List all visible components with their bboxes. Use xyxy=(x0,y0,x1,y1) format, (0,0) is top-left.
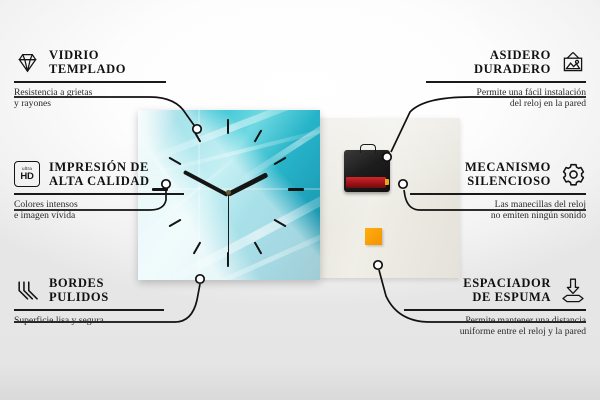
diamond-icon xyxy=(14,49,40,75)
feature-asidero-duradero: ASIDERO DURADERO Permite una fácil insta… xyxy=(426,48,586,109)
feature-desc-line2: y rayones xyxy=(14,98,51,109)
feature-desc-line2: uniforme entre el reloj y la pared xyxy=(460,326,586,337)
feature-title-line2: PULIDOS xyxy=(49,290,109,304)
feature-divider xyxy=(14,81,166,83)
feature-impresion-alta-calidad: ultra HD IMPRESIÓN DE ALTA CALIDAD Color… xyxy=(14,160,184,221)
feature-espaciador-de-espuma: ESPACIADOR DE ESPUMA Permite mantener un… xyxy=(404,276,586,337)
feature-desc-line1: Resistencia a grietas xyxy=(14,87,92,98)
feature-title-line1: VIDRIO xyxy=(49,48,99,62)
feature-desc-line1: Permite mantener una distancia xyxy=(465,315,586,326)
feature-desc-line1: Colores intensos xyxy=(14,199,78,210)
connector-dot-espaciador xyxy=(374,261,382,269)
feature-divider xyxy=(426,81,586,83)
feature-title-line2: DE ESPUMA xyxy=(472,290,551,304)
feature-desc-line1: Superficie lisa y segura xyxy=(14,315,104,326)
connector-dot-mecanismo xyxy=(399,180,407,188)
feature-desc-line2: no emiten ningún sonido xyxy=(491,210,586,221)
hd-badge-main-label: HD xyxy=(20,172,33,182)
feature-title-line1: BORDES xyxy=(49,276,104,290)
feature-divider xyxy=(14,309,164,311)
wall-hanger-frame-icon xyxy=(560,49,586,75)
feature-title-line1: ESPACIADOR xyxy=(463,276,551,290)
feature-title-line1: MECANISMO xyxy=(465,160,551,174)
feature-bordes-pulidos: BORDES PULIDOS Superficie lisa y segura xyxy=(14,276,164,326)
feature-title-line2: SILENCIOSO xyxy=(467,174,551,188)
polished-edges-icon xyxy=(14,277,40,303)
feature-title-line1: ASIDERO xyxy=(490,48,551,62)
feature-desc-line1: Permite una fácil instalación xyxy=(477,87,587,98)
feature-vidrio-templado: VIDRIO TEMPLADO Resistencia a grietas y … xyxy=(14,48,166,109)
feature-divider xyxy=(404,309,586,311)
foam-spacer-arrow-icon xyxy=(560,277,586,303)
feature-desc-line1: Las manecillas del reloj xyxy=(495,199,586,210)
feature-title-line1: IMPRESIÓN DE xyxy=(49,160,149,174)
connector-dot-asidero xyxy=(383,153,391,161)
connector-dot-bordes xyxy=(196,275,204,283)
feature-title-line2: ALTA CALIDAD xyxy=(49,174,150,188)
feature-mecanismo-silencioso: MECANISMO SILENCIOSO Las manecillas del … xyxy=(410,160,586,221)
feature-divider xyxy=(410,193,586,195)
infographic-canvas: VIDRIO TEMPLADO Resistencia a grietas y … xyxy=(0,0,600,400)
feature-divider xyxy=(14,193,184,195)
feature-title-line2: TEMPLADO xyxy=(49,62,126,76)
feature-title-line2: DURADERO xyxy=(474,62,551,76)
ultra-hd-badge-icon: ultra HD xyxy=(14,161,40,187)
connector-dot-vidrio xyxy=(193,125,201,133)
feature-desc-line2: e imagen vívida xyxy=(14,210,75,221)
feature-desc-line2: del reloj en la pared xyxy=(510,98,586,109)
gear-icon xyxy=(560,161,586,187)
